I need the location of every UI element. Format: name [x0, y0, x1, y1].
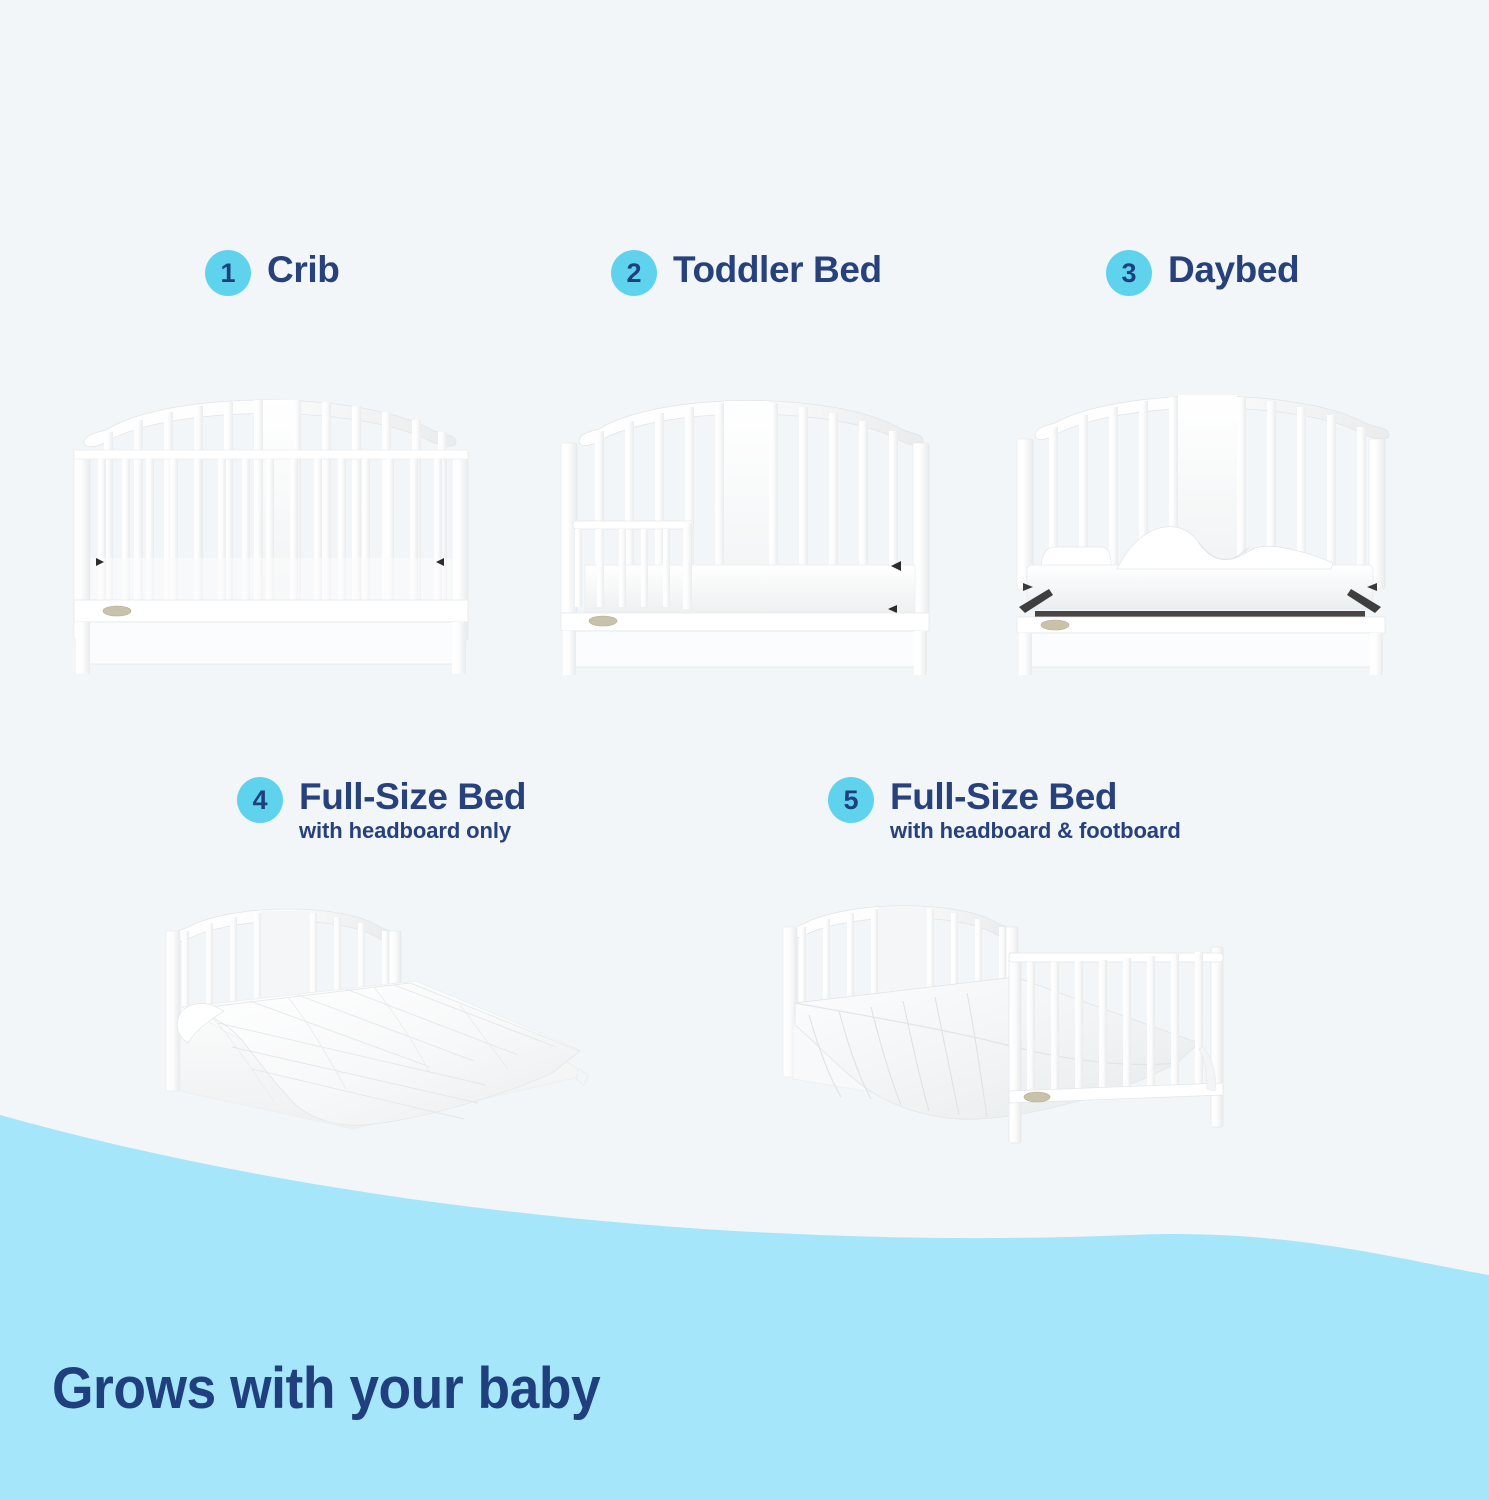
step-title-1: Crib	[267, 250, 339, 289]
daybed-support-bar	[1035, 611, 1365, 617]
toddler-right-post	[913, 443, 929, 613]
step-label-crib: 1 Crib	[205, 250, 339, 296]
step-badge-2: 2	[611, 250, 657, 296]
step-text-group-1: Crib	[267, 250, 339, 289]
crib-base-rail	[74, 600, 468, 622]
toddler-left-leg	[563, 631, 576, 675]
step-subtitle-5: with headboard & footboard	[890, 817, 1181, 845]
step-badge-1: 1	[205, 250, 251, 296]
step-text-group-3: Daybed	[1168, 250, 1299, 289]
product-image-toddler-bed	[545, 383, 945, 675]
step-badge-3: 3	[1106, 250, 1152, 296]
daybed-pillow	[1041, 547, 1111, 565]
infographic-stage: Grows with your baby 1 Crib 2 Toddler Be…	[0, 0, 1489, 1500]
toddler-mattress	[585, 565, 915, 613]
crib-left-leg	[76, 622, 90, 674]
bed4-foot-corner	[576, 1069, 588, 1085]
crib-storage-drawer	[86, 622, 456, 664]
step-badge-4: 4	[237, 777, 283, 823]
daybed-right-leg	[1370, 633, 1383, 675]
graco-logo-plate	[103, 606, 131, 616]
bed4-left-post	[166, 931, 180, 1091]
toddler-right-leg	[914, 631, 927, 675]
banner-headline: Grows with your baby	[52, 1355, 600, 1422]
step-text-group-4: Full-Size Bed with headboard only	[299, 777, 526, 845]
graco-logo-plate	[589, 616, 617, 626]
step-label-full-size-bed-headboard: 4 Full-Size Bed with headboard only	[237, 777, 526, 845]
daybed-left-leg	[1019, 633, 1032, 675]
bed5-footboard-left-post	[1009, 953, 1021, 1143]
daybed-mattress	[1027, 565, 1373, 609]
bed5-footboard-top-rail	[1009, 953, 1223, 962]
toddler-storage-drawer	[573, 631, 917, 667]
graco-logo-plate	[1024, 1092, 1050, 1102]
crib-right-leg	[452, 622, 466, 674]
graco-logo-plate	[1041, 620, 1069, 630]
wave-shape	[0, 1115, 1489, 1500]
crib-mattress	[90, 558, 452, 600]
step-label-daybed: 3 Daybed	[1106, 250, 1299, 296]
step-badge-5: 5	[828, 777, 874, 823]
step-title-2: Toddler Bed	[673, 250, 882, 289]
step-label-full-size-bed-headboard-footboard: 5 Full-Size Bed with headboard & footboa…	[828, 777, 1181, 845]
product-image-crib	[60, 372, 480, 682]
step-title-3: Daybed	[1168, 250, 1299, 289]
product-image-full-size-bed-headboard	[148, 897, 618, 1147]
product-image-daybed	[1013, 383, 1413, 675]
step-subtitle-4: with headboard only	[299, 817, 526, 845]
daybed-storage-drawer	[1029, 633, 1373, 667]
crib-front-top-rail	[74, 450, 468, 459]
product-image-full-size-bed-headboard-footboard	[765, 897, 1245, 1159]
daybed-headboard-slats	[1049, 395, 1366, 573]
step-title-5: Full-Size Bed	[890, 777, 1181, 816]
bed5-footboard-right-post	[1211, 947, 1223, 1127]
step-label-toddler-bed: 2 Toddler Bed	[611, 250, 882, 296]
step-title-4: Full-Size Bed	[299, 777, 526, 816]
step-text-group-5: Full-Size Bed with headboard & footboard	[890, 777, 1181, 845]
daybed-base-rail	[1017, 617, 1385, 633]
step-text-group-2: Toddler Bed	[673, 250, 882, 289]
